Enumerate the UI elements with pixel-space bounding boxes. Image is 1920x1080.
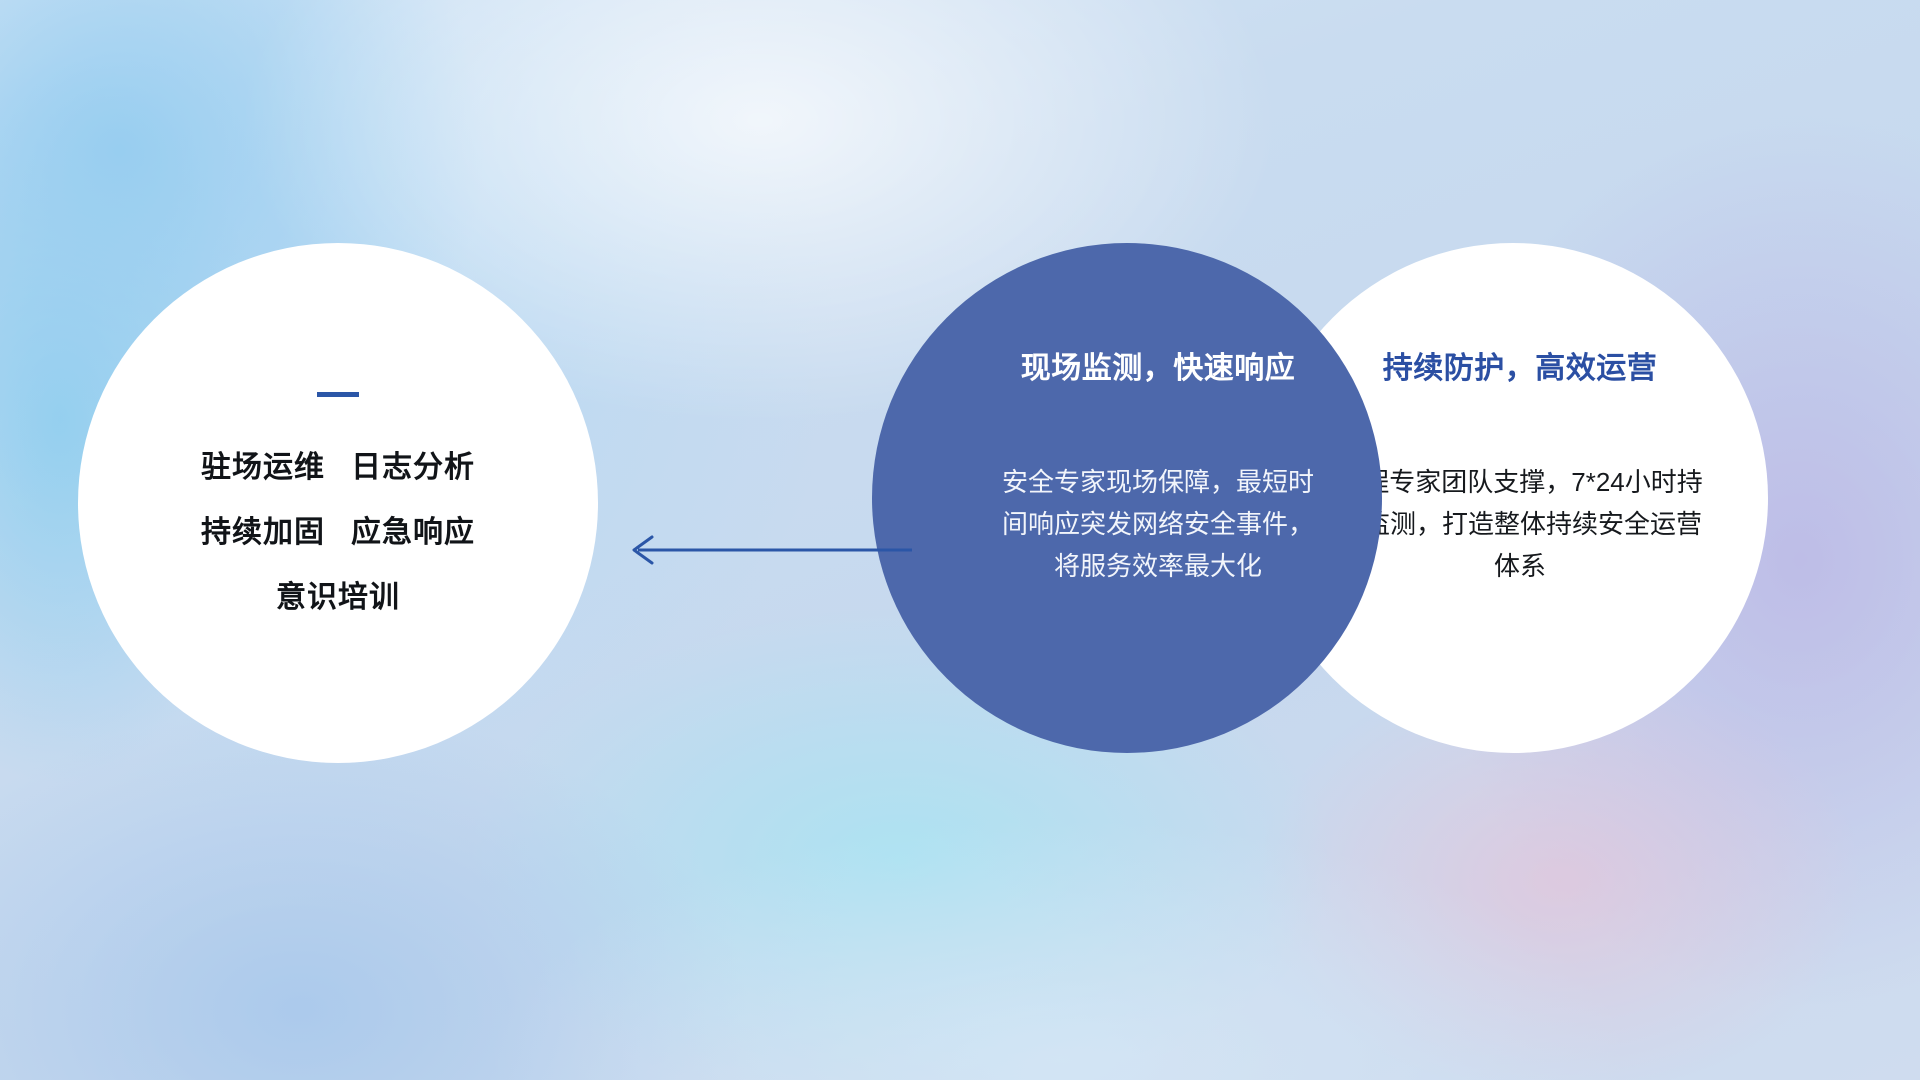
service-line-1: 驻场运维日志分析 bbox=[201, 451, 475, 484]
accent-dash-icon bbox=[317, 392, 359, 397]
service-line-2: 持续加固应急响应 bbox=[201, 516, 475, 549]
service-item-yingjixiangying: 应急响应 bbox=[351, 516, 475, 549]
service-line-3: 意识培训 bbox=[276, 581, 400, 614]
middle-card-body: 安全专家现场保障，最短时间响应突发网络安全事件，将服务效率最大化 bbox=[993, 461, 1323, 587]
service-item-zhuchangyunwei: 驻场运维 bbox=[201, 451, 325, 484]
service-item-rizhifenxi: 日志分析 bbox=[351, 451, 475, 484]
middle-card-title: 现场监测，快速响应 bbox=[1021, 351, 1296, 387]
middle-circle-content: 现场监测，快速响应 安全专家现场保障，最短时间响应突发网络安全事件，将服务效率最… bbox=[872, 243, 1382, 753]
right-card-body: 远程专家团队支撑，7*24小时持续监测，打造整体持续安全运营体系 bbox=[1326, 461, 1714, 587]
service-item-chixujiagu: 持续加固 bbox=[201, 516, 325, 549]
right-card-title: 持续防护，高效运营 bbox=[1383, 351, 1658, 387]
middle-service-circle[interactable]: 现场监测，快速响应 安全专家现场保障，最短时间响应突发网络安全事件，将服务效率最… bbox=[872, 243, 1382, 753]
slide-canvas: 驻场运维日志分析 持续加固应急响应 意识培训 持续防护，高效运营 远程专家团队支… bbox=[0, 0, 1920, 1080]
arrow-left-icon bbox=[612, 528, 912, 572]
left-service-circle[interactable]: 驻场运维日志分析 持续加固应急响应 意识培训 bbox=[78, 243, 598, 763]
left-circle-content: 驻场运维日志分析 持续加固应急响应 意识培训 bbox=[78, 243, 598, 763]
